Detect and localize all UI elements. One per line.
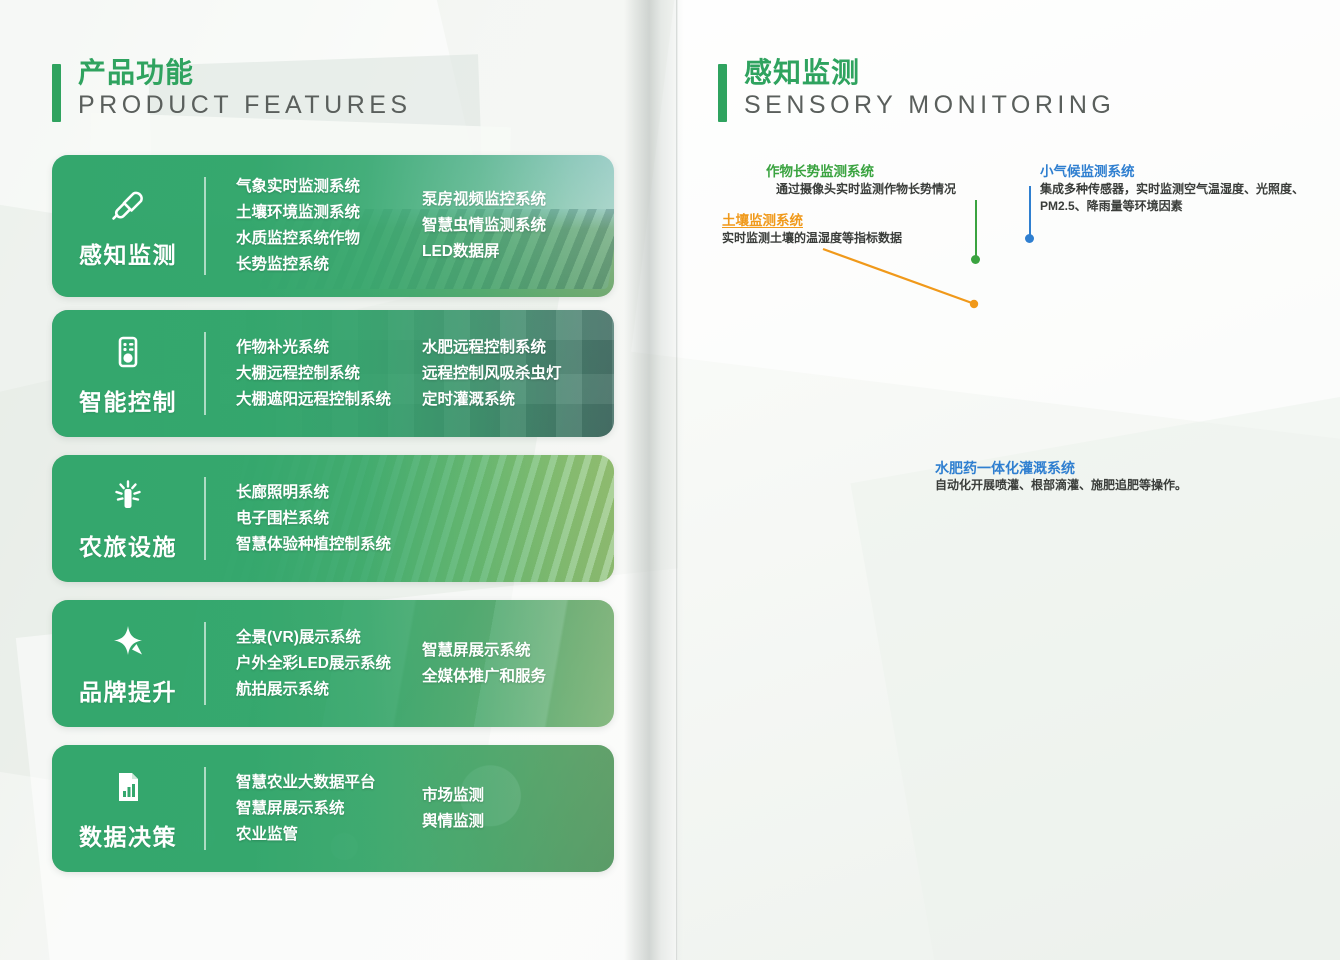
feature-item: 智慧屏展示系统 (236, 796, 422, 822)
card-column-secondary: 智慧屏展示系统 全媒体推广和服务 (422, 625, 546, 703)
feature-item: 定时灌溉系统 (422, 387, 562, 413)
annotation-microclimate: 小气候监测系统 集成多种传感器，实时监测空气温湿度、光照度、PM2.5、降雨量等… (1040, 163, 1325, 215)
annotation-crop-growth: 作物长势监测系统 通过摄像头实时监测作物长势情况 (766, 163, 1006, 198)
card-column-secondary: 市场监测 舆情监测 (422, 770, 484, 848)
card-title-block: 智能控制 (52, 330, 204, 417)
right-page-heading: 感知监测 SENSORY MONITORING (718, 57, 1115, 123)
feature-card-brand[interactable]: 品牌提升 全景(VR)展示系统 户外全彩LED展示系统 航拍展示系统 智慧屏展示… (52, 600, 614, 727)
feature-item: LED数据屏 (422, 239, 546, 265)
card-title: 农旅设施 (79, 528, 177, 562)
feature-item: 作物补光系统 (236, 335, 422, 361)
card-column-primary: 长廊照明系统 电子围栏系统 智慧体验种植控制系统 (236, 480, 496, 558)
card-column-secondary: 泵房视频监控系统 智慧虫情监测系统 LED数据屏 (422, 174, 546, 278)
card-column-primary: 智慧农业大数据平台 智慧屏展示系统 农业监管 (236, 770, 422, 848)
feature-item: 大棚远程控制系统 (236, 361, 422, 387)
feature-item: 智慧屏展示系统 (422, 638, 546, 664)
leader-line-microclimate (1029, 186, 1031, 239)
feature-item: 智慧虫情监测系统 (422, 213, 546, 239)
feature-item: 水质监控系统作物 (236, 226, 422, 252)
feature-item: 航拍展示系统 (236, 677, 422, 703)
card-column-secondary: 水肥远程控制系统 远程控制风吸杀虫灯 定时灌溉系统 (422, 335, 562, 413)
leader-line-soil (820, 245, 1000, 315)
document-chart-icon (106, 765, 150, 809)
feature-item: 舆情监测 (422, 809, 484, 835)
feature-item: 全景(VR)展示系统 (236, 625, 422, 651)
left-heading-en: PRODUCT FEATURES (78, 89, 412, 123)
feature-item: 气象实时监测系统 (236, 174, 422, 200)
card-title: 感知监测 (79, 236, 177, 270)
feature-card-smart-control[interactable]: 智能控制 作物补光系统 大棚远程控制系统 大棚遮阳远程控制系统 水肥远程控制系统… (52, 310, 614, 437)
book-spine-line (676, 0, 678, 960)
feature-item: 全媒体推广和服务 (422, 664, 546, 690)
card-column-primary: 全景(VR)展示系统 户外全彩LED展示系统 航拍展示系统 (236, 625, 422, 703)
feature-item: 市场监测 (422, 783, 484, 809)
feature-item: 长势监控系统 (236, 252, 422, 278)
left-page-heading: 产品功能 PRODUCT FEATURES (52, 57, 412, 123)
feature-item: 电子围栏系统 (236, 506, 496, 532)
heading-accent-bar (52, 64, 61, 122)
right-heading-en: SENSORY MONITORING (744, 89, 1115, 123)
control-panel-icon (106, 330, 150, 374)
feature-item: 智慧体验种植控制系统 (236, 532, 496, 558)
left-heading-cn: 产品功能 (78, 57, 412, 89)
brochure-page: 产品功能 PRODUCT FEATURES 感知监测 (0, 0, 1340, 960)
feature-item: 水肥远程控制系统 (422, 335, 562, 361)
feature-card-sensing[interactable]: 感知监测 气象实时监测系统 土壤环境监测系统 水质监控系统作物 长势监控系统 泵… (52, 155, 614, 297)
card-title: 数据决策 (79, 818, 177, 852)
card-title-block: 感知监测 (52, 183, 204, 270)
feature-card-agritourism[interactable]: 农旅设施 长廊照明系统 电子围栏系统 智慧体验种植控制系统 (52, 455, 614, 582)
feature-item: 土壤环境监测系统 (236, 200, 422, 226)
card-title-block: 品牌提升 (52, 620, 204, 707)
annotation-soil: 土壤监测系统 实时监测土壤的温湿度等指标数据 (722, 212, 952, 247)
card-title-block: 数据决策 (52, 765, 204, 852)
annotation-irrigation: 水肥药一体化灌溉系统 自动化开展喷灌、根部滴灌、施肥追肥等操作。 (935, 459, 1275, 494)
feature-card-data-decision[interactable]: 数据决策 智慧农业大数据平台 智慧屏展示系统 农业监管 市场监测 舆情监测 (52, 745, 614, 872)
annotation-title: 作物长势监测系统 (766, 163, 1006, 181)
card-title: 智能控制 (79, 383, 177, 417)
annotation-title: 土壤监测系统 (722, 212, 952, 230)
annotation-body: 自动化开展喷灌、根部滴灌、施肥追肥等操作。 (935, 477, 1275, 494)
feature-item: 智慧农业大数据平台 (236, 770, 422, 796)
right-heading-cn: 感知监测 (744, 57, 1115, 89)
feature-item: 大棚遮阳远程控制系统 (236, 387, 422, 413)
card-column-primary: 气象实时监测系统 土壤环境监测系统 水质监控系统作物 长势监控系统 (236, 174, 422, 278)
annotation-body: 集成多种传感器，实时监测空气温湿度、光照度、PM2.5、降雨量等环境因素 (1040, 181, 1325, 215)
street-lamp-icon (106, 475, 150, 519)
leader-dot-microclimate (1025, 234, 1034, 243)
annotation-body: 通过摄像头实时监测作物长势情况 (776, 181, 1006, 198)
card-title-block: 农旅设施 (52, 475, 204, 562)
feature-item: 长廊照明系统 (236, 480, 496, 506)
heading-accent-bar (718, 64, 727, 122)
sensor-probe-icon (106, 183, 150, 227)
card-column-primary: 作物补光系统 大棚远程控制系统 大棚遮阳远程控制系统 (236, 335, 422, 413)
feature-item: 户外全彩LED展示系统 (236, 651, 422, 677)
annotation-title: 小气候监测系统 (1040, 163, 1325, 181)
star-burst-icon (106, 620, 150, 664)
feature-item: 泵房视频监控系统 (422, 187, 546, 213)
book-gutter-shadow (624, 0, 684, 960)
annotation-title: 水肥药一体化灌溉系统 (935, 459, 1275, 477)
feature-item: 远程控制风吸杀虫灯 (422, 361, 562, 387)
feature-item: 农业监管 (236, 822, 422, 848)
card-title: 品牌提升 (79, 673, 177, 707)
